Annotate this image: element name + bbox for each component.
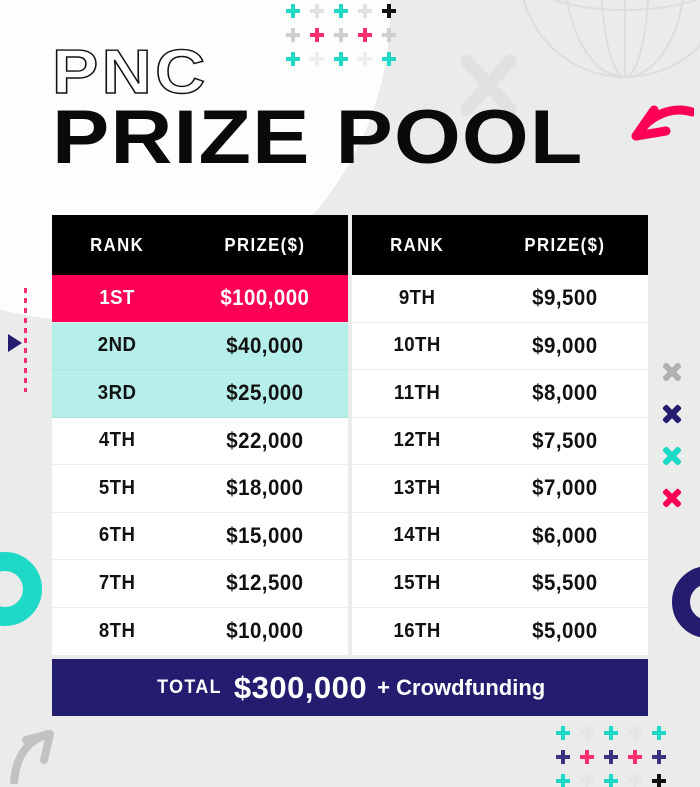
cell-prize: $7,000: [488, 475, 642, 501]
prize-table: RANK PRIZE($) 1ST$100,0002ND$40,0003RD$2…: [52, 215, 648, 655]
table-row: 4TH$22,000: [52, 418, 348, 466]
plus-icon: [580, 750, 594, 764]
cell-prize: $12,500: [188, 570, 342, 596]
x-mark-cyan-icon: [662, 446, 682, 466]
cell-rank: 8TH: [57, 620, 178, 643]
table-row: 8TH$10,000: [52, 608, 348, 656]
table-row: 9TH$9,500: [352, 275, 648, 323]
table-body-right: 9TH$9,50010TH$9,00011TH$8,00012TH$7,5001…: [352, 275, 648, 655]
total-label: TOTAL: [157, 677, 222, 699]
cell-prize: $5,000: [488, 618, 642, 644]
column-header-rank: RANK: [357, 235, 478, 256]
plus-icon: [556, 726, 570, 740]
pink-curved-arrow-icon: [628, 98, 694, 158]
column-header-rank: RANK: [57, 235, 178, 256]
cell-rank: 4TH: [57, 429, 178, 452]
table-body-left: 1ST$100,0002ND$40,0003RD$25,0004TH$22,00…: [52, 275, 348, 655]
cell-rank: 7TH: [57, 572, 178, 595]
prize-table-right: RANK PRIZE($) 9TH$9,50010TH$9,00011TH$8,…: [352, 215, 648, 655]
plus-icon: [382, 4, 396, 18]
table-row: 1ST$100,000: [52, 275, 348, 323]
cell-rank: 3RD: [57, 382, 178, 405]
prize-table-left: RANK PRIZE($) 1ST$100,0002ND$40,0003RD$2…: [52, 215, 348, 655]
table-row: 6TH$15,000: [52, 513, 348, 561]
plus-icon: [310, 4, 324, 18]
pink-dashed-line: [24, 288, 27, 392]
page-title: PRIZE POOL: [52, 103, 583, 173]
plus-icon: [556, 750, 570, 764]
plus-icon: [652, 774, 666, 787]
cell-prize: $6,000: [488, 523, 642, 549]
x-mark-gray-icon: [662, 362, 682, 382]
table-row: 15TH$5,500: [352, 560, 648, 608]
table-row: 10TH$9,000: [352, 323, 648, 371]
cyan-ring-shape: [0, 552, 42, 626]
plus-icon: [556, 774, 570, 787]
cell-prize: $5,500: [488, 570, 642, 596]
plus-icon: [652, 726, 666, 740]
plus-icon: [604, 750, 618, 764]
plus-grid-bottom: [556, 726, 676, 787]
total-prize-bar: TOTAL $300,000 + Crowdfunding: [52, 659, 648, 716]
plus-icon: [628, 750, 642, 764]
cell-rank: 2ND: [57, 334, 178, 357]
cell-prize: $7,500: [488, 428, 642, 454]
x-mark-pink-icon: [662, 488, 682, 508]
plus-icon: [334, 4, 348, 18]
cell-prize: $40,000: [188, 333, 342, 359]
table-row: 7TH$12,500: [52, 560, 348, 608]
plus-icon: [358, 28, 372, 42]
cell-rank: 6TH: [57, 524, 178, 547]
table-header-row-right: RANK PRIZE($): [352, 215, 648, 275]
page-header: PNC PRIZE POOL: [52, 44, 522, 173]
table-row: 16TH$5,000: [352, 608, 648, 656]
navy-triangle-icon: [8, 334, 22, 352]
cell-prize: $8,000: [488, 380, 642, 406]
table-row: 14TH$6,000: [352, 513, 648, 561]
table-row: 3RD$25,000: [52, 370, 348, 418]
cell-rank: 5TH: [57, 477, 178, 500]
plus-icon: [358, 4, 372, 18]
cell-prize: $22,000: [188, 428, 342, 454]
table-row: 5TH$18,000: [52, 465, 348, 513]
gray-curved-arrow-icon: [6, 726, 72, 784]
plus-icon: [628, 774, 642, 787]
table-row: 13TH$7,000: [352, 465, 648, 513]
cell-rank: 9TH: [357, 287, 478, 310]
cell-prize: $18,000: [188, 475, 342, 501]
plus-icon: [382, 28, 396, 42]
x-mark-column: [662, 362, 682, 508]
cell-prize: $25,000: [188, 380, 342, 406]
plus-icon: [652, 750, 666, 764]
cell-rank: 16TH: [357, 620, 478, 643]
plus-icon: [604, 774, 618, 787]
table-header-row-left: RANK PRIZE($): [52, 215, 348, 275]
column-header-prize: PRIZE($): [188, 235, 342, 256]
cell-rank: 13TH: [357, 477, 478, 500]
table-row: 11TH$8,000: [352, 370, 648, 418]
plus-icon: [334, 28, 348, 42]
cell-prize: $15,000: [188, 523, 342, 549]
table-row: 12TH$7,500: [352, 418, 648, 466]
plus-icon: [580, 774, 594, 787]
cell-prize: $9,000: [488, 333, 642, 359]
cell-rank: 15TH: [357, 572, 478, 595]
table-row: 2ND$40,000: [52, 323, 348, 371]
total-amount: $300,000: [234, 670, 367, 706]
navy-ring-shape: [672, 566, 700, 638]
cell-rank: 1ST: [57, 287, 178, 310]
plus-icon: [580, 726, 594, 740]
cell-prize: $100,000: [188, 285, 342, 311]
plus-icon: [604, 726, 618, 740]
x-mark-navy-icon: [662, 404, 682, 424]
brand-name: PNC: [52, 44, 579, 101]
cell-prize: $9,500: [488, 285, 642, 311]
cell-rank: 10TH: [357, 334, 478, 357]
plus-icon: [310, 28, 324, 42]
column-header-prize: PRIZE($): [488, 235, 642, 256]
cell-rank: 12TH: [357, 429, 478, 452]
cell-rank: 14TH: [357, 524, 478, 547]
cell-prize: $10,000: [188, 618, 342, 644]
total-extra-note: + Crowdfunding: [377, 675, 545, 701]
plus-icon: [286, 28, 300, 42]
plus-icon: [286, 4, 300, 18]
cell-rank: 11TH: [357, 382, 478, 405]
plus-icon: [628, 726, 642, 740]
